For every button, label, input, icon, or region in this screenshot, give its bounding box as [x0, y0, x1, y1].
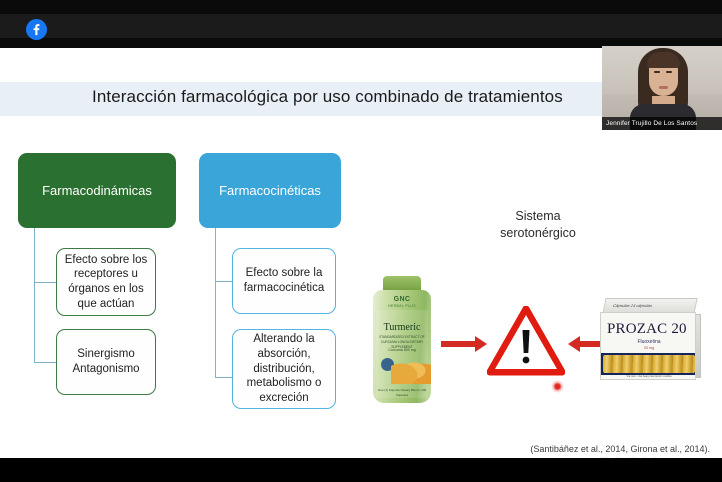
- medication-generic: Fluoxetina: [601, 339, 696, 345]
- medication-box-image: Cápsulas 14 cápsulas PROZAC 20 Fluoxetin…: [598, 298, 702, 382]
- turmeric-root-art: [391, 354, 431, 384]
- webcam-video-tile[interactable]: Jennifer Trujillo De Los Santos: [602, 46, 722, 130]
- participant-name-label: Jennifer Trujillo De Los Santos: [602, 117, 722, 130]
- top-chrome-inner: [0, 14, 722, 38]
- medication-capsule-strip: [601, 353, 696, 375]
- zoom-screen-share-window: Interacción farmacológica por uso combin…: [0, 0, 722, 482]
- supplement-footer: One (1) Capsule Dietary Blend / 100 Caps…: [376, 388, 428, 398]
- medication-box-face: PROZAC 20 Fluoxetina 20 mg Vía oral - Us…: [600, 312, 696, 380]
- supplement-brand-sub: HERBAL PLUS: [373, 304, 431, 308]
- webcam-hair-top: [647, 52, 680, 68]
- supplement-brand: GNC: [373, 296, 431, 303]
- medication-name: PROZAC 20: [607, 321, 687, 338]
- bottle-body: GNC HERBAL PLUS Turmeric STANDARDIZED EX…: [373, 290, 431, 403]
- facebook-icon[interactable]: [26, 19, 47, 40]
- red-cursor-dot: [551, 380, 564, 393]
- slide-citation: (Santibáñez et al., 2014, Girona et al.,…: [0, 444, 710, 454]
- serotonergic-system-label: Sistema serotonérgico: [478, 208, 598, 242]
- supplement-dose: Curcuma 500 mg: [373, 348, 431, 352]
- supplement-bottle-image: GNC HERBAL PLUS Turmeric STANDARDIZED EX…: [373, 276, 431, 403]
- medication-dose: 20 mg: [601, 346, 696, 350]
- supplement-product-name: Turmeric: [373, 322, 431, 333]
- capsules-art: [603, 355, 695, 373]
- bottom-chrome-bar: [0, 458, 722, 482]
- webcam-mouth: [659, 86, 668, 89]
- top-chrome-bar: [0, 0, 722, 48]
- medication-top-text: Cápsulas 14 cápsulas: [612, 303, 653, 308]
- medication-footer: Vía oral - Uso bajo prescripción médica: [601, 375, 696, 378]
- warning-triangle-icon: [487, 306, 565, 376]
